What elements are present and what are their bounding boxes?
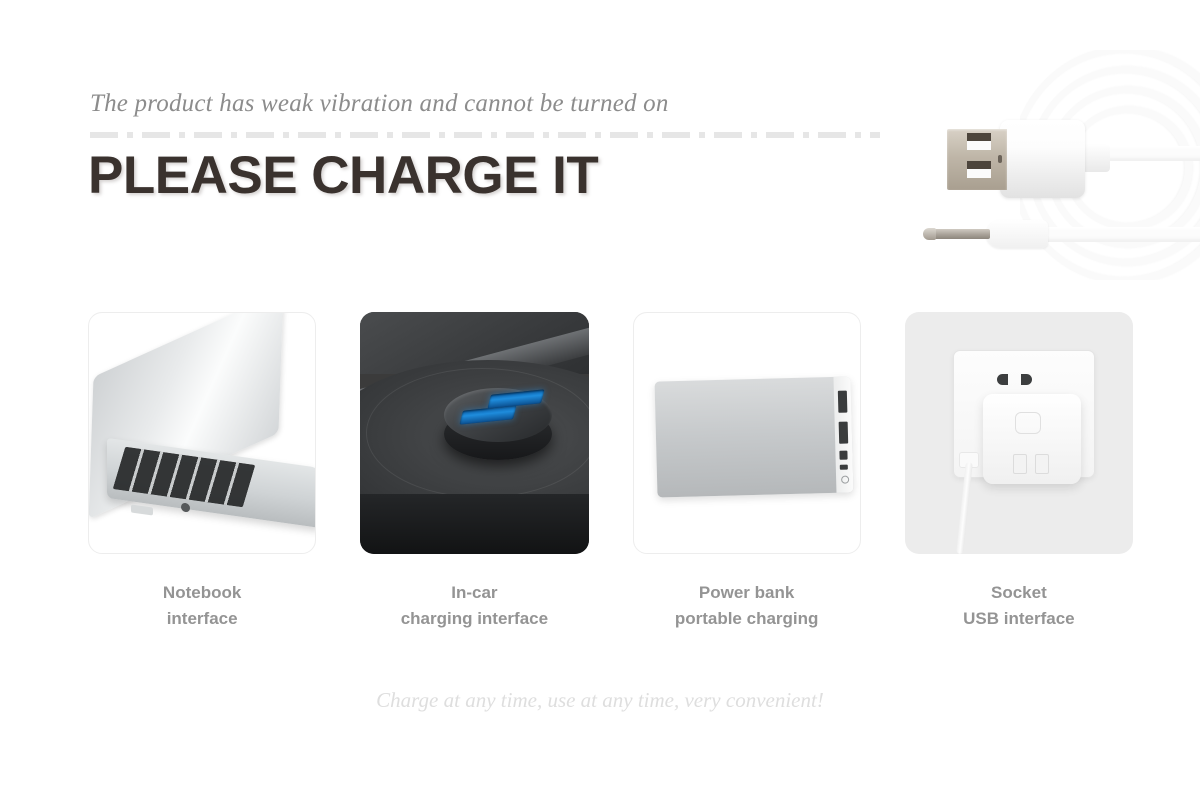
caption-notebook: Notebook interface	[88, 580, 316, 633]
jack-tip-icon	[923, 228, 936, 240]
page-title: PLEASE CHARGE IT	[88, 145, 598, 206]
subheading: The product has weak vibration and canno…	[90, 90, 890, 118]
caption-line-1: Power bank	[633, 580, 861, 606]
product-banner: The product has weak vibration and canno…	[0, 0, 1200, 785]
notebook-laptop-icon	[89, 313, 315, 553]
card-caption-list: Notebook interface In-car charging inter…	[88, 580, 1133, 633]
usb-strain-relief	[1082, 144, 1110, 172]
power-bank-icon	[654, 376, 853, 497]
card-socket	[905, 312, 1133, 554]
card-power-bank	[633, 312, 861, 554]
caption-line-2: interface	[88, 606, 316, 632]
usb-connector-housing	[1000, 120, 1085, 198]
dashed-divider	[90, 132, 880, 138]
card-notebook	[88, 312, 316, 554]
footer-tagline: Charge at any time, use at any time, ver…	[0, 688, 1200, 713]
header: The product has weak vibration and canno…	[90, 90, 890, 118]
compatibility-card-list	[88, 312, 1133, 557]
caption-line-2: portable charging	[633, 606, 861, 632]
usb-a-plug-icon	[947, 129, 1007, 190]
caption-in-car: In-car charging interface	[360, 580, 588, 633]
caption-socket: Socket USB interface	[905, 580, 1133, 633]
caption-line-1: Socket	[905, 580, 1133, 606]
caption-line-1: Notebook	[88, 580, 316, 606]
caption-power-bank: Power bank portable charging	[633, 580, 861, 633]
jack-pin-icon	[928, 229, 990, 239]
caption-line-2: USB interface	[905, 606, 1133, 632]
jack-connector-housing	[986, 220, 1048, 248]
usb-cable-icon	[890, 40, 1200, 290]
caption-line-1: In-car	[360, 580, 588, 606]
caption-line-2: charging interface	[360, 606, 588, 632]
card-in-car	[360, 312, 588, 554]
